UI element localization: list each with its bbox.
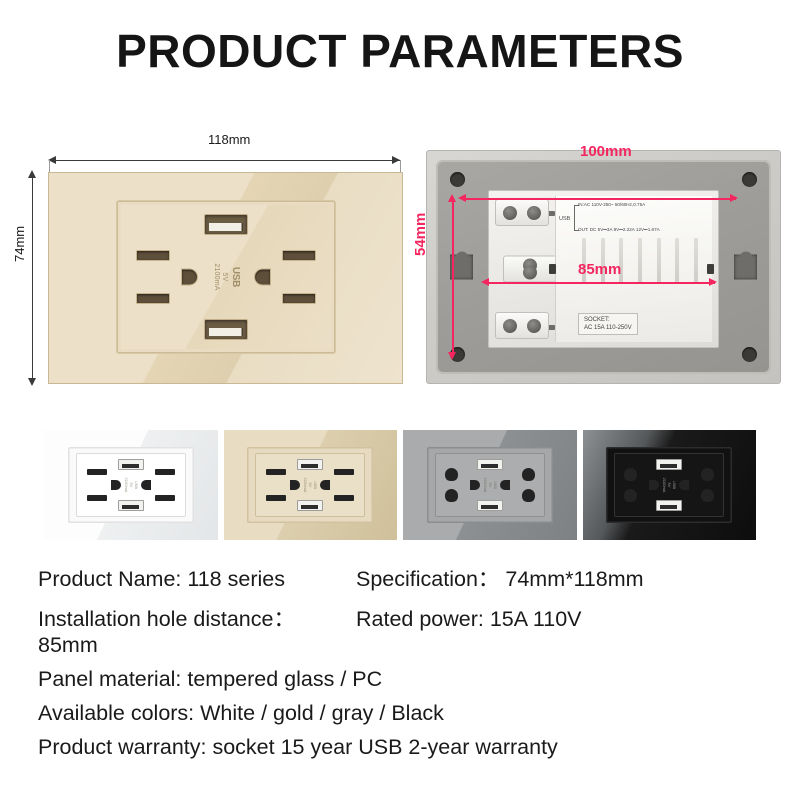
usb-port-top-icon	[204, 214, 248, 235]
terminal-screw	[527, 319, 541, 333]
variant-black[interactable]: USB5V2100mA	[583, 430, 757, 540]
variant-gold[interactable]: USB5V2100mA	[224, 430, 398, 540]
mount-screw-hole-br	[742, 347, 757, 362]
module-socket-rating: SOCKET: AC 15A 110-250V	[578, 313, 638, 335]
page-title: PRODUCT PARAMETERS	[0, 24, 800, 78]
back-height-arrow-up	[448, 194, 456, 202]
module-clip-left	[549, 264, 556, 274]
spec-hole-distance: Installation hole distance： 85mm	[38, 602, 356, 658]
spec-available-colors: Available colors: White / gold / gray / …	[38, 701, 444, 726]
front-marking-voltage: 5V	[220, 263, 229, 290]
mount-screw-hole-tl	[450, 172, 465, 187]
front-socket-image: USB 5V 2100mA	[48, 172, 403, 384]
module-socket-rating-line1: SOCKET:	[584, 316, 632, 324]
terminal-block-bottom	[495, 312, 549, 339]
back-height-arrow-down	[448, 352, 456, 360]
terminal-block-top	[495, 199, 549, 226]
module-usb-label: USB	[559, 216, 570, 222]
hole-distance-label: 85mm	[578, 261, 621, 278]
variant-white[interactable]: USB5V2100mA	[44, 430, 218, 540]
variant-marking: USB5V2100mA	[483, 478, 497, 493]
front-height-arrow-down	[28, 378, 36, 386]
variant-outlet-left	[264, 465, 300, 505]
terminal-screw	[527, 206, 541, 220]
variant-outlet-left	[623, 465, 659, 505]
outlet-left	[134, 242, 198, 312]
outlet-left-slot-lower	[136, 293, 170, 304]
variant-outlet-left	[444, 465, 480, 505]
spec-row-4: Available colors: White / gold / gray / …	[38, 701, 768, 726]
variant-marking: USB5V2100mA	[662, 478, 676, 493]
back-height-line	[452, 198, 454, 356]
module-socket-rating-line2: AC 15A 110-250V	[584, 324, 632, 332]
back-width-line	[464, 198, 736, 200]
product-parameters-page: PRODUCT PARAMETERS 118mm 74mm	[0, 0, 800, 800]
spec-row-2: Installation hole distance： 85mm Rated p…	[38, 602, 768, 658]
variant-outlet-right	[500, 465, 536, 505]
hole-distance-arrow-left	[481, 278, 489, 286]
variant-marking: USB5V2100mA	[124, 478, 138, 493]
outlet-right-slot-lower	[282, 293, 316, 304]
hole-distance-arrow-right	[709, 278, 717, 286]
spec-row-3: Panel material: tempered glass / PC	[38, 667, 768, 692]
back-width-arrow-right	[730, 194, 738, 202]
variant-marking: USB5V2100mA	[303, 478, 317, 493]
outlet-left-ground	[181, 269, 198, 286]
outlet-right-ground	[254, 269, 271, 286]
front-height-arrow-up	[28, 170, 36, 178]
color-variant-strip: USB5V2100mA USB5V2100mA	[44, 430, 756, 540]
variant-outlet-right	[679, 465, 715, 505]
front-width-arrow-right	[392, 156, 400, 164]
front-marking-current: 2100mA	[211, 263, 220, 290]
spec-panel-material: Panel material: tempered glass / PC	[38, 667, 382, 692]
back-height-label: 54mm	[412, 213, 429, 256]
module-clip-right	[707, 264, 714, 274]
spec-row-1: Product Name: 118 series Specification： …	[38, 562, 768, 593]
front-socket-faceplate: USB 5V 2100mA	[117, 201, 335, 353]
front-face-marking: USB 5V 2100mA	[211, 263, 241, 290]
front-width-label: 118mm	[208, 132, 250, 147]
module-output-rating: OUT: DC 5V⎓3A 9V⎓2.22A 12V⎓1.67A	[578, 227, 660, 232]
variant-outlet-right	[141, 465, 177, 505]
mount-screw-hole-tr	[742, 172, 757, 187]
terminal-screw	[503, 206, 517, 220]
spec-specification: Specification： 74mm*118mm	[356, 562, 768, 593]
wiring-terminals	[495, 197, 549, 341]
spec-rated-power: Rated power: 15A 110V	[356, 607, 768, 632]
variant-outlet-right	[320, 465, 356, 505]
outlet-left-slot-upper	[136, 250, 170, 261]
back-width-label: 100mm	[580, 143, 632, 160]
front-marking-usb: USB	[229, 263, 242, 290]
front-height-line	[32, 172, 33, 384]
outlet-right	[254, 242, 318, 312]
front-height-label: 74mm	[12, 226, 27, 262]
spec-warranty: Product warranty: socket 15 year USB 2-y…	[38, 735, 558, 760]
module-input-rating: IN:AC 110V-250~ 50/60Hz,0.75A	[578, 202, 645, 207]
back-width-arrow-left	[458, 194, 466, 202]
mount-keyhole-right	[734, 255, 757, 280]
specification-list: Product Name: 118 series Specification： …	[38, 562, 768, 769]
outlet-right-slot-upper	[282, 250, 316, 261]
usb-port-bottom-icon	[204, 319, 248, 340]
variant-outlet-left	[85, 465, 121, 505]
hole-distance-line	[487, 282, 715, 284]
terminal-screw	[523, 266, 537, 280]
spec-product-name: Product Name: 118 series	[38, 567, 356, 592]
variant-gray[interactable]: USB5V2100mA	[403, 430, 577, 540]
spec-row-5: Product warranty: socket 15 year USB 2-y…	[38, 735, 768, 760]
front-width-line	[50, 160, 400, 161]
terminal-screw	[503, 319, 517, 333]
